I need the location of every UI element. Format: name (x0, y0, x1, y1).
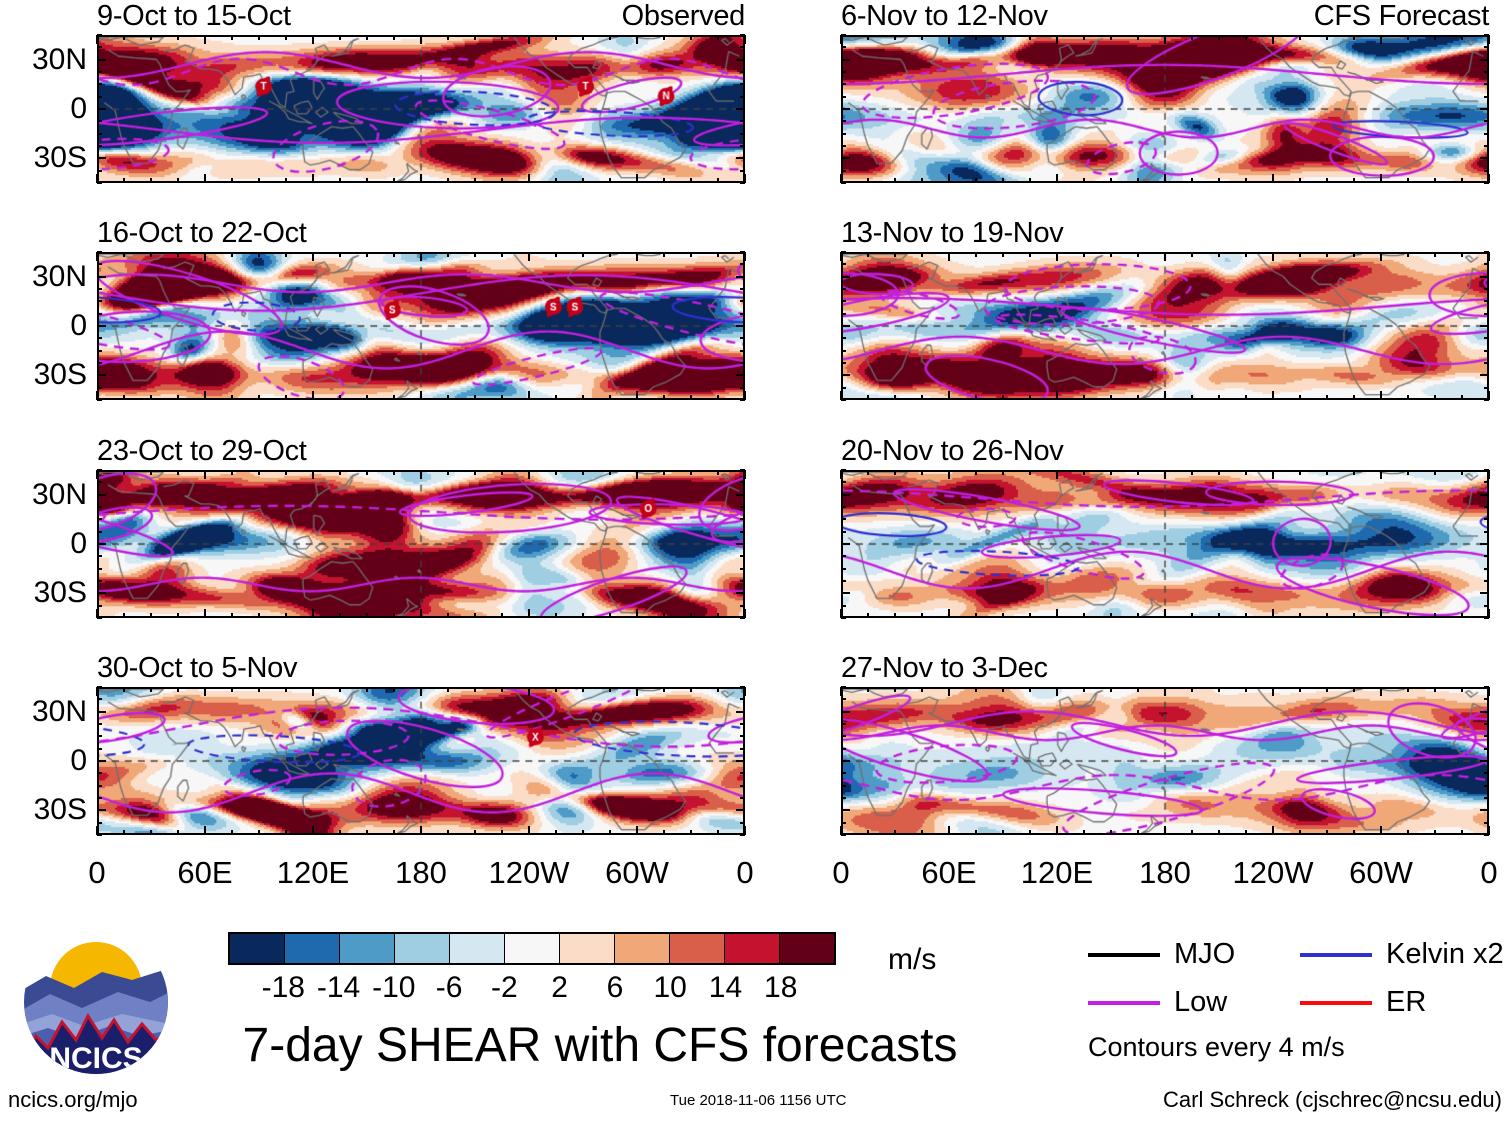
x-tick (1164, 391, 1166, 400)
x-tick (555, 830, 557, 835)
x-tick (204, 609, 206, 618)
panel-title-obs-2: 16-Oct to 22-Oct (97, 219, 307, 248)
y-tick (740, 300, 745, 302)
x-tick (1191, 470, 1193, 475)
x-tick (231, 470, 233, 475)
x-tick (285, 178, 287, 183)
x-tick (1029, 178, 1031, 183)
x-tick (1056, 470, 1058, 479)
x-tick (867, 830, 869, 835)
contour-legend: MJOKelvin x2LowER (1088, 940, 1498, 1030)
x-tick (204, 174, 206, 183)
x-tick (1245, 395, 1247, 400)
x-tick (312, 470, 314, 479)
y-tick (736, 157, 745, 159)
x-tick (1029, 35, 1031, 40)
x-tick (582, 395, 584, 400)
x-tick (636, 470, 638, 479)
x-tick (867, 178, 869, 183)
x-tick (123, 35, 125, 40)
x-tick (1272, 470, 1274, 479)
x-tick (1380, 609, 1382, 618)
x-tick (1461, 613, 1463, 618)
x-tick (1461, 830, 1463, 835)
x-tick (204, 252, 206, 261)
x-tick (690, 613, 692, 618)
x-tick (1353, 613, 1355, 618)
x-tick (1029, 470, 1031, 475)
y-tick (740, 785, 745, 787)
x-tick (717, 470, 719, 475)
x-tick (1002, 830, 1004, 835)
x-tick (1299, 35, 1301, 40)
map-panel-fcst-4: 27-Nov to 3-Dec (841, 687, 1489, 835)
x-tick (312, 826, 314, 835)
x-tick (231, 178, 233, 183)
x-tick (366, 470, 368, 475)
x-tick (339, 470, 341, 475)
x-tick (690, 395, 692, 400)
x-tick (609, 613, 611, 618)
x-tick (1434, 35, 1436, 40)
x-tick (1218, 252, 1220, 257)
y-tick (97, 288, 102, 290)
x-tick (1056, 252, 1058, 261)
x-tick (1461, 178, 1463, 183)
x-tick (1326, 178, 1328, 183)
x-tick (1380, 174, 1382, 183)
x-tick (921, 178, 923, 183)
x-tick (366, 395, 368, 400)
y-tick (841, 374, 850, 376)
y-tick (97, 120, 102, 122)
x-tick (609, 687, 611, 692)
x-tick (1461, 252, 1463, 257)
panel-title-obs-4: 30-Oct to 5-Nov (97, 654, 297, 683)
x-tick (420, 687, 422, 696)
y-tick (736, 543, 745, 545)
x-tick (1002, 613, 1004, 618)
x-tick (894, 687, 896, 692)
x-tick (312, 687, 314, 696)
y-tick (97, 133, 102, 135)
x-tick (501, 470, 503, 475)
map-field-fcst-3 (843, 472, 1487, 616)
colorbar-tick--6: -6 (436, 973, 463, 1003)
x-tick (96, 252, 98, 261)
x-tick (1461, 35, 1463, 40)
legend-label: ER (1386, 988, 1426, 1017)
y-tick (736, 592, 745, 594)
x-tick (1110, 35, 1112, 40)
x-tick (636, 391, 638, 400)
y-tick (740, 748, 745, 750)
x-tick (1191, 613, 1193, 618)
panel-title-fcst-2: 13-Nov to 19-Nov (841, 219, 1063, 248)
x-tick-label-60E: 60E (177, 857, 232, 888)
x-tick (285, 252, 287, 257)
map-field-fcst-1 (843, 37, 1487, 181)
x-tick (840, 826, 842, 835)
colorbar-tick--2: -2 (491, 973, 518, 1003)
y-tick-label-30S: 30S (34, 143, 87, 173)
x-tick (96, 174, 98, 183)
x-tick (582, 613, 584, 618)
x-tick (1083, 470, 1085, 475)
x-tick (1353, 395, 1355, 400)
y-tick (841, 157, 850, 159)
y-tick (740, 531, 745, 533)
x-tick (867, 613, 869, 618)
y-tick (740, 797, 745, 799)
map-frame-obs-1 (97, 35, 745, 183)
x-tick (975, 395, 977, 400)
y-tick (740, 481, 745, 483)
footer-author: Carl Schreck (cjschrec@ncsu.edu) (1163, 1087, 1502, 1113)
x-tick (582, 830, 584, 835)
colorbar-cell-0 (230, 934, 285, 963)
x-tick (123, 178, 125, 183)
x-tick (1380, 391, 1382, 400)
x-tick (636, 252, 638, 261)
y-tick (97, 785, 102, 787)
x-tick (1353, 252, 1355, 257)
colorbar-tick--10: -10 (372, 973, 415, 1003)
y-tick (97, 145, 102, 147)
x-tick (1002, 395, 1004, 400)
x-tick (150, 178, 152, 183)
map-frame-fcst-2 (841, 252, 1489, 400)
y-tick (1484, 605, 1489, 607)
y-tick (1484, 83, 1489, 85)
x-tick (1110, 395, 1112, 400)
colorbar-tick-2: 2 (551, 973, 568, 1003)
x-tick (1164, 470, 1166, 479)
y-tick (740, 96, 745, 98)
x-tick (1056, 391, 1058, 400)
colorbar-tick-6: 6 (607, 973, 624, 1003)
y-tick (841, 555, 846, 557)
x-tick (1407, 395, 1409, 400)
y-tick (1484, 735, 1489, 737)
x-tick (1434, 613, 1436, 618)
x-tick (204, 826, 206, 835)
colorbar: -18-14-10-6-226101418 m/s (228, 932, 836, 1012)
y-tick (841, 145, 846, 147)
x-tick (150, 613, 152, 618)
x-tick (1434, 395, 1436, 400)
x-tick (447, 178, 449, 183)
x-tick (582, 35, 584, 40)
x-tick (339, 613, 341, 618)
x-tick (1137, 178, 1139, 183)
x-tick (1461, 395, 1463, 400)
x-tick (150, 252, 152, 257)
footer-link[interactable]: ncics.org/mjo (8, 1087, 138, 1113)
y-tick (1484, 568, 1489, 570)
x-tick (150, 470, 152, 475)
x-tick (894, 252, 896, 257)
x-tick (690, 687, 692, 692)
x-tick (975, 687, 977, 692)
x-tick (1029, 830, 1031, 835)
x-tick (312, 391, 314, 400)
x-tick (1164, 252, 1166, 261)
x-tick (1083, 687, 1085, 692)
x-tick (1245, 35, 1247, 40)
x-tick (474, 830, 476, 835)
x-tick (204, 470, 206, 479)
x-tick (555, 35, 557, 40)
x-tick (501, 613, 503, 618)
x-tick (1164, 609, 1166, 618)
x-tick-label-120W: 120W (489, 857, 570, 888)
x-tick (1191, 830, 1193, 835)
y-tick-label-30N: 30N (32, 480, 87, 510)
y-tick (97, 735, 102, 737)
column-header-left: Observed (622, 2, 745, 31)
x-tick (867, 395, 869, 400)
y-tick-label-30N: 30N (32, 262, 87, 292)
x-tick (690, 35, 692, 40)
x-tick-label-120E: 120E (1021, 857, 1093, 888)
x-tick (312, 174, 314, 183)
map-frame-obs-3 (97, 470, 745, 618)
legend-swatch-line (1300, 1001, 1372, 1005)
x-tick (582, 470, 584, 475)
x-tick (312, 252, 314, 261)
x-tick (1191, 252, 1193, 257)
y-tick (1484, 387, 1489, 389)
x-tick (447, 35, 449, 40)
x-tick (894, 830, 896, 835)
y-tick (97, 263, 102, 265)
x-tick (1191, 687, 1193, 692)
y-tick (841, 481, 846, 483)
x-tick (1272, 609, 1274, 618)
x-tick (1110, 613, 1112, 618)
x-tick (393, 178, 395, 183)
colorbar-tick--14: -14 (317, 973, 360, 1003)
x-tick (690, 178, 692, 183)
y-tick-label-30N: 30N (32, 697, 87, 727)
y-tick (1484, 531, 1489, 533)
x-tick (582, 687, 584, 692)
x-tick (1083, 830, 1085, 835)
x-tick (1029, 252, 1031, 257)
x-tick (948, 826, 950, 835)
x-tick (1137, 35, 1139, 40)
x-tick (921, 252, 923, 257)
panel-title-fcst-3: 20-Nov to 26-Nov (841, 437, 1063, 466)
y-tick (1480, 543, 1489, 545)
footer-timestamp: Tue 2018-11-06 1156 UTC (670, 1092, 847, 1109)
x-tick (447, 830, 449, 835)
x-tick (1056, 609, 1058, 618)
legend-swatch-line (1300, 953, 1372, 957)
x-tick (123, 470, 125, 475)
y-tick (841, 59, 850, 61)
x-tick (663, 252, 665, 257)
figure-root: 9-Oct to 15-OctObserved30N030S16-Oct to … (0, 0, 1510, 1121)
x-tick (948, 391, 950, 400)
x-tick (204, 35, 206, 44)
x-tick (1299, 470, 1301, 475)
map-panel-fcst-2: 13-Nov to 19-Nov (841, 252, 1489, 400)
x-tick (339, 687, 341, 692)
y-tick (1480, 711, 1489, 713)
x-tick (867, 35, 869, 40)
x-tick (420, 470, 422, 479)
x-tick (609, 470, 611, 475)
x-tick (948, 252, 950, 261)
x-tick (96, 609, 98, 618)
y-tick (1484, 580, 1489, 582)
y-tick (740, 170, 745, 172)
x-tick (204, 687, 206, 696)
y-tick (97, 374, 106, 376)
x-tick (312, 35, 314, 44)
x-tick (663, 613, 665, 618)
x-tick-label-0: 0 (1480, 857, 1497, 888)
x-tick (840, 470, 842, 479)
y-tick (841, 170, 846, 172)
x-tick (285, 613, 287, 618)
x-tick (1245, 252, 1247, 257)
map-frame-obs-4 (97, 687, 745, 835)
y-tick (1484, 723, 1489, 725)
x-tick-label-60W: 60W (605, 857, 669, 888)
x-tick (1245, 830, 1247, 835)
map-field-obs-1 (99, 37, 743, 181)
x-tick (1218, 395, 1220, 400)
x-tick (1218, 470, 1220, 475)
colorbar-swatches (228, 932, 836, 965)
x-tick (1272, 687, 1274, 696)
y-tick (740, 698, 745, 700)
y-tick (1480, 592, 1489, 594)
colorbar-cell-10 (780, 934, 834, 963)
y-tick (1484, 120, 1489, 122)
y-tick (736, 325, 745, 327)
x-tick (1407, 830, 1409, 835)
x-tick-label-60W: 60W (1349, 857, 1413, 888)
x-tick (744, 391, 746, 400)
colorbar-tick-14: 14 (709, 973, 742, 1003)
y-tick (740, 263, 745, 265)
colorbar-units-label: m/s (888, 945, 936, 975)
x-tick-label-120E: 120E (277, 857, 349, 888)
x-tick (1434, 178, 1436, 183)
x-tick (339, 35, 341, 40)
x-tick (975, 252, 977, 257)
x-tick (474, 35, 476, 40)
y-tick (740, 506, 745, 508)
x-tick (447, 613, 449, 618)
y-tick (1484, 481, 1489, 483)
x-tick (1407, 252, 1409, 257)
y-tick (841, 362, 846, 364)
x-tick (609, 178, 611, 183)
x-tick (150, 830, 152, 835)
x-tick (1110, 687, 1112, 692)
x-tick (501, 35, 503, 40)
x-tick (717, 613, 719, 618)
y-tick (841, 568, 846, 570)
x-tick (420, 252, 422, 261)
x-tick (744, 826, 746, 835)
x-tick (1110, 830, 1112, 835)
y-tick (97, 362, 102, 364)
x-tick (1326, 613, 1328, 618)
y-tick (1480, 157, 1489, 159)
x-tick (285, 470, 287, 475)
x-tick (663, 35, 665, 40)
x-tick (717, 395, 719, 400)
x-tick (447, 252, 449, 257)
y-tick (1484, 518, 1489, 520)
x-tick (717, 178, 719, 183)
x-tick (258, 687, 260, 692)
x-tick (663, 687, 665, 692)
x-tick (258, 35, 260, 40)
x-tick (663, 395, 665, 400)
x-tick (474, 613, 476, 618)
y-tick (736, 374, 745, 376)
x-tick (1461, 687, 1463, 692)
y-tick (740, 337, 745, 339)
y-tick (97, 387, 102, 389)
main-title: 7-day SHEAR with CFS forecasts (200, 1022, 1000, 1070)
y-tick (1480, 374, 1489, 376)
x-tick (1002, 35, 1004, 40)
y-tick (740, 120, 745, 122)
y-tick (841, 506, 846, 508)
x-tick (975, 830, 977, 835)
panel-title-fcst-4: 27-Nov to 3-Dec (841, 654, 1048, 683)
map-frame-obs-2 (97, 252, 745, 400)
x-tick (312, 609, 314, 618)
y-tick (97, 698, 102, 700)
x-tick (1380, 470, 1382, 479)
y-tick (841, 46, 846, 48)
x-tick (1218, 830, 1220, 835)
x-tick (555, 252, 557, 257)
y-tick (1484, 263, 1489, 265)
x-tick (501, 395, 503, 400)
x-tick (555, 178, 557, 183)
y-tick (1484, 300, 1489, 302)
y-tick (97, 797, 102, 799)
x-tick (1083, 252, 1085, 257)
y-tick (841, 735, 846, 737)
x-axis-labels-left: 060E120E180120W60W0 (97, 857, 745, 897)
y-tick (740, 518, 745, 520)
x-tick (921, 395, 923, 400)
x-tick (285, 687, 287, 692)
y-tick (1480, 760, 1489, 762)
x-tick (177, 470, 179, 475)
legend-item-er: ER (1300, 988, 1426, 1017)
x-tick (1245, 178, 1247, 183)
y-tick (841, 120, 846, 122)
x-tick (393, 830, 395, 835)
map-field-obs-4 (99, 689, 743, 833)
y-tick (736, 760, 745, 762)
x-tick (1353, 35, 1355, 40)
y-tick (841, 785, 846, 787)
x-tick (717, 35, 719, 40)
